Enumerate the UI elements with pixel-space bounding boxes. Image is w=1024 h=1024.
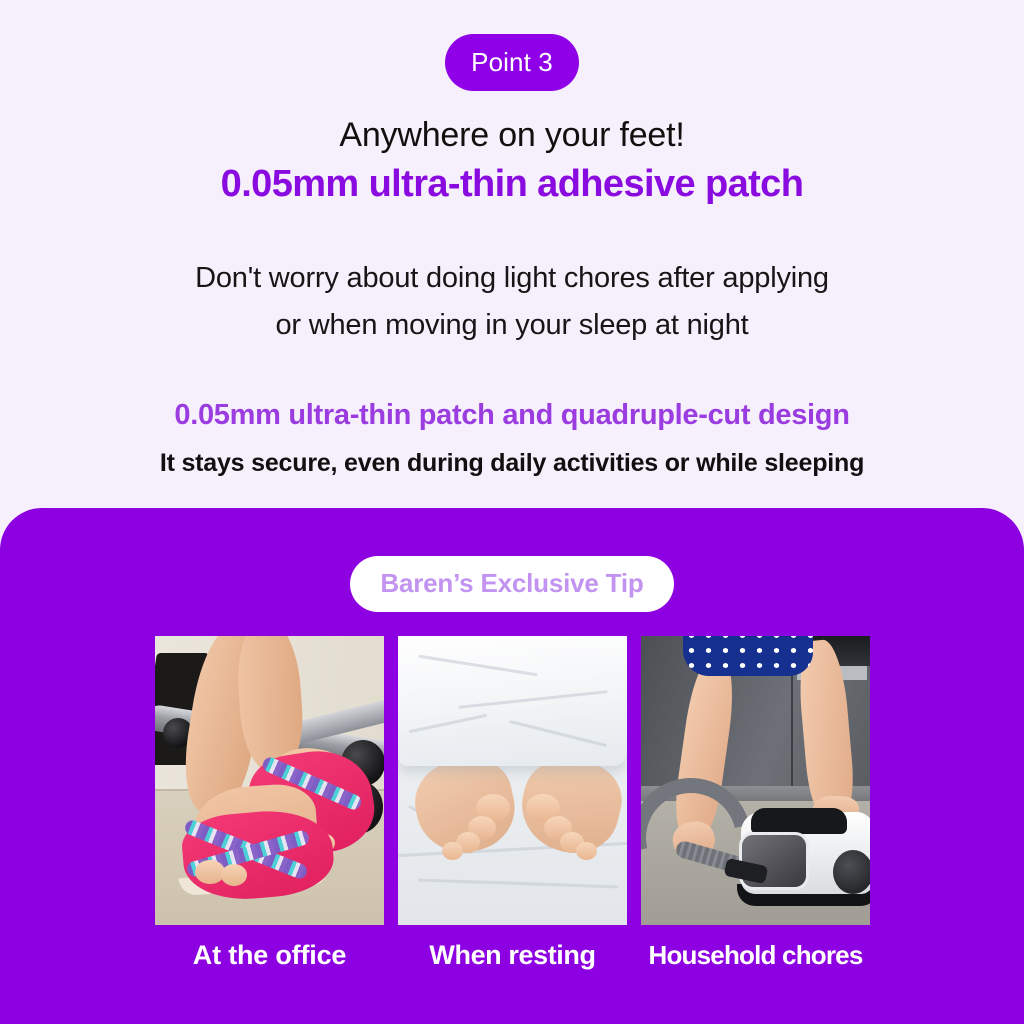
point-badge-row: Point 3 — [0, 34, 1024, 91]
use-case-card: When resting — [398, 636, 627, 971]
tip-pill-row: Baren’s Exclusive Tip — [0, 508, 1024, 612]
body-copy: Don't worry about doing light chores aft… — [0, 255, 1024, 349]
tip-panel: Baren’s Exclusive Tip At the office — [0, 508, 1024, 1024]
emphasis-black-line: It stays secure, even during daily activ… — [0, 447, 1024, 480]
photo-feet-in-slippers-at-office — [155, 636, 384, 925]
headline-group: Anywhere on your feet! 0.05mm ultra-thin… — [0, 115, 1024, 207]
tip-pill-label: Baren’s Exclusive Tip — [350, 556, 673, 612]
headline-subtitle: Anywhere on your feet! — [0, 115, 1024, 155]
use-case-caption: Household chores — [641, 941, 870, 970]
photo-vacuuming-household-chores — [641, 636, 870, 925]
top-section: Point 3 Anywhere on your feet! 0.05mm ul… — [0, 0, 1024, 480]
headline-main: 0.05mm ultra-thin adhesive patch — [0, 161, 1024, 207]
use-case-card: At the office — [155, 636, 384, 971]
body-line-1: Don't worry about doing light chores aft… — [0, 255, 1024, 302]
emphasis-purple-line: 0.05mm ultra-thin patch and quadruple-cu… — [0, 397, 1024, 435]
body-line-2: or when moving in your sleep at night — [0, 302, 1024, 349]
use-case-card: Household chores — [641, 636, 870, 971]
photo-bare-feet-in-bed — [398, 636, 627, 925]
point-badge: Point 3 — [445, 34, 579, 91]
use-case-card-list: At the office When resting — [155, 636, 869, 971]
use-case-caption: At the office — [155, 941, 384, 971]
emphasis-block: 0.05mm ultra-thin patch and quadruple-cu… — [0, 397, 1024, 479]
use-case-caption: When resting — [398, 941, 627, 971]
